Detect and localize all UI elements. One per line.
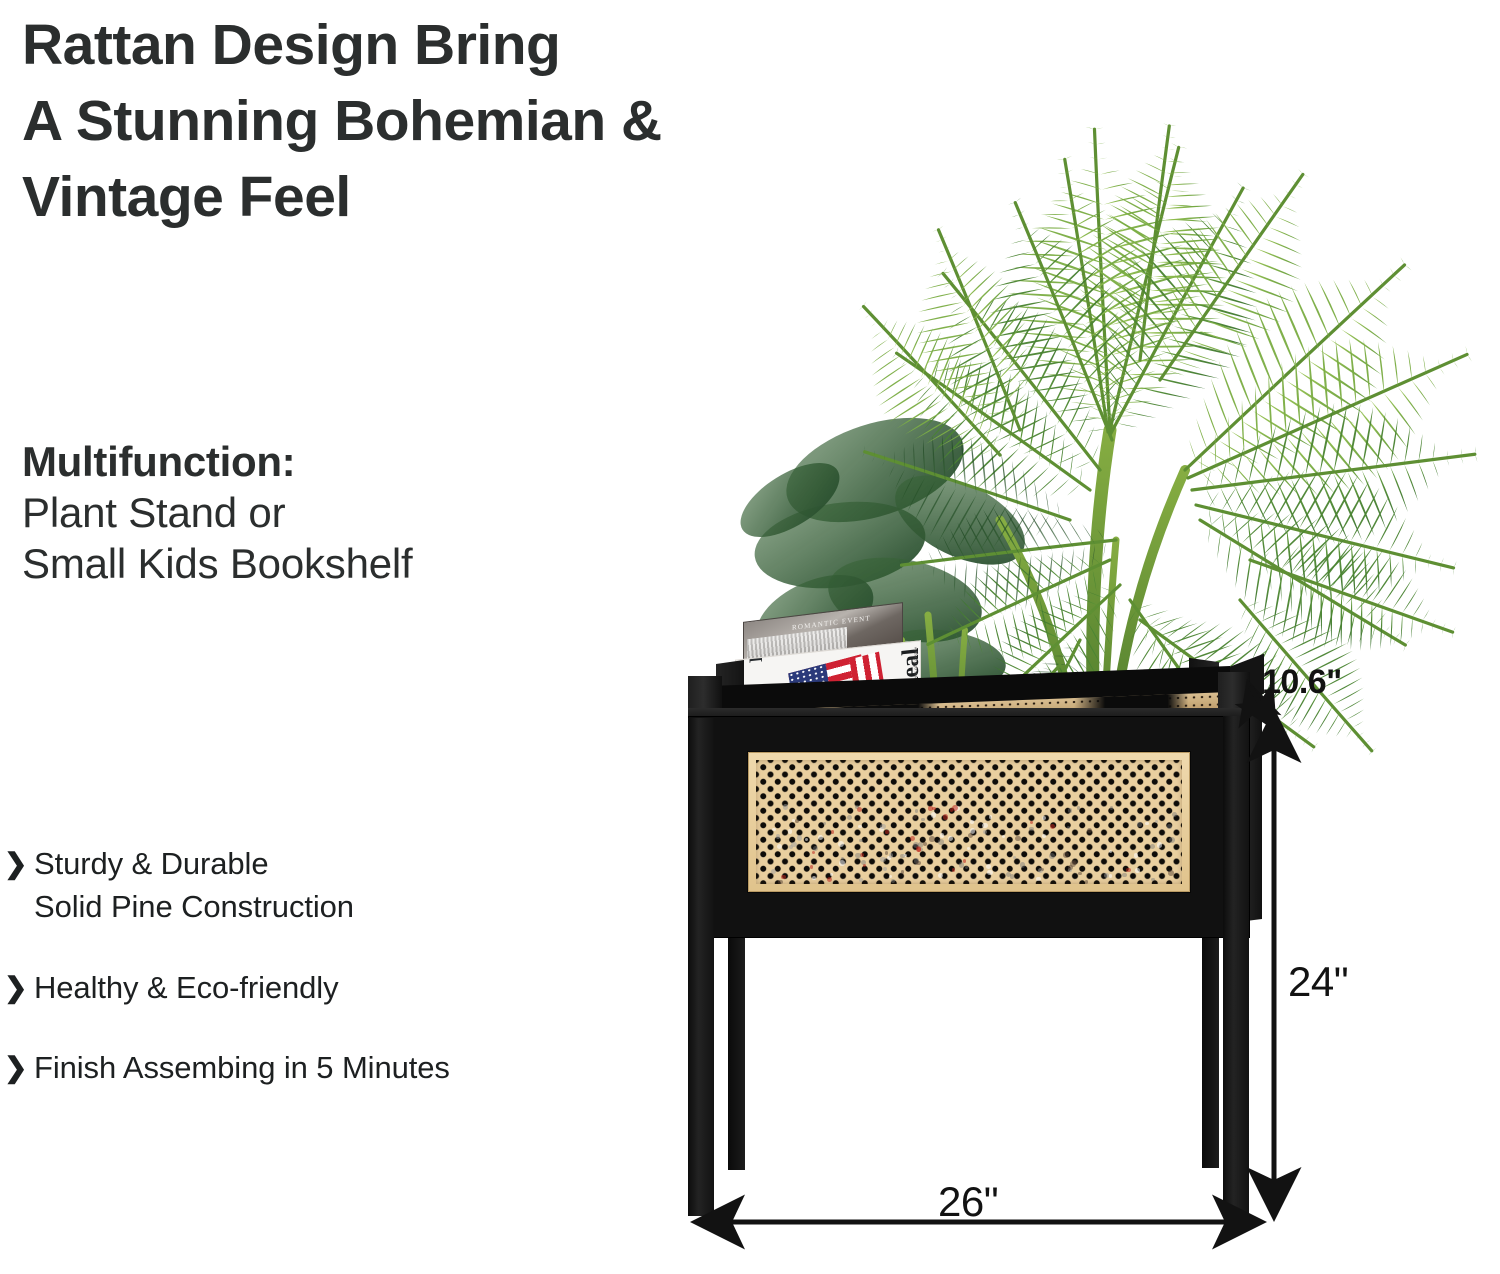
rattan-speck (841, 857, 844, 860)
list-item-label: Sturdy & Durable Solid Pine Construction (34, 843, 354, 929)
rattan-speck (1110, 806, 1114, 810)
rattan-speck (1042, 834, 1046, 838)
rattan-speck (1134, 853, 1138, 857)
rattan-speck (1169, 837, 1175, 843)
rattan-speck (929, 836, 935, 842)
rattan-speck (1010, 874, 1015, 879)
rattan-speck (777, 844, 782, 849)
rattan-speck (860, 853, 864, 857)
list-item-label: Healthy & Eco-friendly (34, 967, 339, 1010)
rattan-speck (1068, 865, 1073, 870)
rattan-speck (858, 825, 861, 828)
height-label: 24" (1288, 958, 1348, 1006)
rattan-speck (1020, 862, 1026, 868)
rattan-speck (827, 877, 832, 882)
rattan-speck (889, 875, 892, 878)
rattan-speck (1067, 826, 1070, 829)
rattan-speck (921, 818, 925, 822)
rattan-speck (1006, 872, 1011, 877)
rattan-speck (823, 822, 826, 825)
rattan-speck (931, 812, 936, 817)
rattan-speck (880, 824, 886, 830)
rattan-speck (983, 830, 987, 834)
rattan-speck (965, 866, 968, 869)
rattan-speck (1167, 824, 1171, 828)
rattan-speck (783, 804, 788, 809)
rattan-speck (1068, 808, 1073, 813)
rattan-speck (859, 878, 863, 882)
rattan-speck (1070, 861, 1076, 867)
rattan-speck (830, 873, 833, 876)
width-label: 26" (938, 1178, 998, 1226)
rattan-speck (857, 807, 862, 812)
list-item-label: Finish Assembing in 5 Minutes (34, 1047, 450, 1090)
multifunction-block: Multifunction: Plant Stand or Small Kids… (22, 437, 662, 589)
rattan-speck (952, 868, 955, 871)
rattan-speck (1002, 835, 1006, 839)
rattan-speck (792, 819, 795, 822)
rattan-speck (1126, 868, 1131, 873)
rattan-speck (914, 858, 919, 863)
rattan-speck (913, 815, 917, 819)
rattan-speck (1038, 868, 1043, 873)
rattan-speck (968, 833, 973, 838)
chevron-right-icon: ❯ (4, 967, 34, 1009)
rattan-speck (838, 841, 844, 847)
feature-list: ❯ Sturdy & Durable Solid Pine Constructi… (4, 843, 664, 1090)
rattan-speck (788, 829, 792, 833)
list-item: ❯ Sturdy & Durable Solid Pine Constructi… (4, 843, 664, 929)
rattan-plant-stand (640, 0, 1500, 1274)
rattan-speck (915, 809, 919, 813)
rattan-speck (959, 862, 965, 868)
rattan-speck (781, 875, 786, 880)
rattan-speck (1172, 812, 1177, 817)
rattan-speck (1030, 821, 1033, 824)
rattan-speck (943, 814, 949, 820)
rattan-speck (970, 820, 974, 824)
rattan-speck (1072, 860, 1077, 865)
rattan-speck (831, 830, 834, 833)
rattan-speck (923, 842, 927, 846)
rattan-speck (778, 880, 783, 885)
rattan-speck (855, 853, 860, 858)
rattan-speck (1029, 827, 1033, 831)
product-infographic: Rattan Design Bring A Stunning Bohemian … (0, 0, 1500, 1274)
rattan-cane-weave (756, 760, 1182, 884)
rattan-speck (883, 867, 887, 871)
rattan-speck (1041, 868, 1044, 871)
rattan-speck (1151, 878, 1155, 882)
rattan-speck (910, 836, 915, 841)
rattan-speck (889, 853, 894, 858)
rattan-speck (913, 842, 919, 848)
leg-front-right (1223, 716, 1249, 1216)
rattan-speck (885, 851, 888, 854)
rattan-speck (1036, 877, 1041, 882)
rattan-speck (859, 839, 862, 842)
rattan-speck (795, 819, 799, 823)
rattan-speck (1050, 824, 1055, 829)
rattan-speck (1150, 844, 1155, 849)
list-item: ❯ Healthy & Eco-friendly (4, 967, 664, 1010)
rattan-speck (812, 851, 815, 854)
chevron-right-icon: ❯ (4, 843, 34, 885)
rattan-speck (932, 807, 936, 811)
rattan-speck (1068, 868, 1072, 872)
rattan-speck (1137, 822, 1142, 827)
rattan-speck (1145, 822, 1149, 826)
rattan-panel-front (748, 752, 1190, 892)
multifunction-lines: Plant Stand or Small Kids Bookshelf (22, 488, 662, 590)
rattan-speck (928, 806, 932, 810)
rattan-speck (880, 857, 886, 863)
leg-front-left (688, 718, 714, 1216)
rattan-speck (1085, 880, 1089, 884)
rattan-speck (1168, 870, 1174, 876)
product-photo: ROMANTIC EVENT ECENTO A Celebration of D… (640, 0, 1500, 1274)
rattan-speck (938, 839, 944, 845)
rattan-speck (1078, 872, 1082, 876)
rattan-speck (1087, 828, 1092, 833)
rattan-speck (861, 860, 866, 865)
rattan-speck (963, 859, 966, 862)
rattan-speck (970, 828, 975, 833)
list-item: ❯ Finish Assembing in 5 Minutes (4, 1047, 664, 1090)
rattan-speck (879, 827, 884, 832)
rattan-speck (885, 830, 888, 833)
depth-label: 10.6" (1262, 663, 1342, 702)
rattan-speck (797, 835, 802, 840)
rattan-speck (847, 815, 852, 820)
rattan-speck (948, 836, 953, 841)
rattan-speck (920, 848, 923, 851)
rattan-speck (855, 805, 859, 809)
rattan-speck (1063, 852, 1069, 858)
rattan-speck (950, 808, 953, 811)
rattan-speck (863, 864, 866, 867)
rattan-speck (887, 856, 891, 860)
chevron-right-icon: ❯ (4, 1047, 34, 1089)
rattan-speck (917, 847, 922, 852)
rattan-speck (952, 805, 958, 811)
rattan-speck (916, 846, 922, 852)
rattan-speck (903, 854, 907, 858)
rattan-speck (1104, 873, 1109, 878)
rattan-speck (813, 846, 818, 851)
rattan-speck (1015, 836, 1020, 841)
rattan-speck (901, 870, 905, 874)
rattan-speck (1049, 853, 1055, 859)
rattan-speck (1013, 856, 1016, 859)
rattan-speck (918, 842, 924, 848)
rattan-speck (900, 854, 904, 858)
rattan-speck (818, 835, 823, 840)
rattan-speck (1109, 850, 1112, 853)
multifunction-title: Multifunction: (22, 437, 662, 488)
rattan-speck (771, 869, 776, 874)
rattan-speck (1109, 874, 1113, 878)
rattan-speck (940, 833, 945, 838)
rattan-speck (1077, 806, 1081, 810)
rattan-speck (839, 860, 845, 866)
rattan-speck (954, 806, 960, 812)
rattan-speck (938, 873, 943, 878)
rattan-speck (772, 828, 775, 831)
rattan-speck (1135, 868, 1140, 873)
rattan-speck (805, 838, 808, 841)
rattan-speck (789, 845, 793, 849)
rattan-speck (1155, 820, 1158, 823)
rattan-speck (1042, 816, 1047, 821)
rattan-speck (791, 842, 797, 848)
rattan-speck (989, 815, 993, 819)
rattan-speck (986, 864, 991, 869)
rattan-speck (916, 861, 920, 865)
rattan-speck (776, 834, 781, 839)
rattan-speck (967, 847, 970, 850)
rattan-speck (1157, 842, 1162, 847)
rattan-speck (810, 865, 813, 868)
rattan-speck (1122, 873, 1126, 877)
rattan-speck (982, 823, 987, 828)
rattan-speck (987, 870, 993, 876)
rattan-speck (891, 879, 896, 884)
rattan-speck (812, 876, 816, 880)
